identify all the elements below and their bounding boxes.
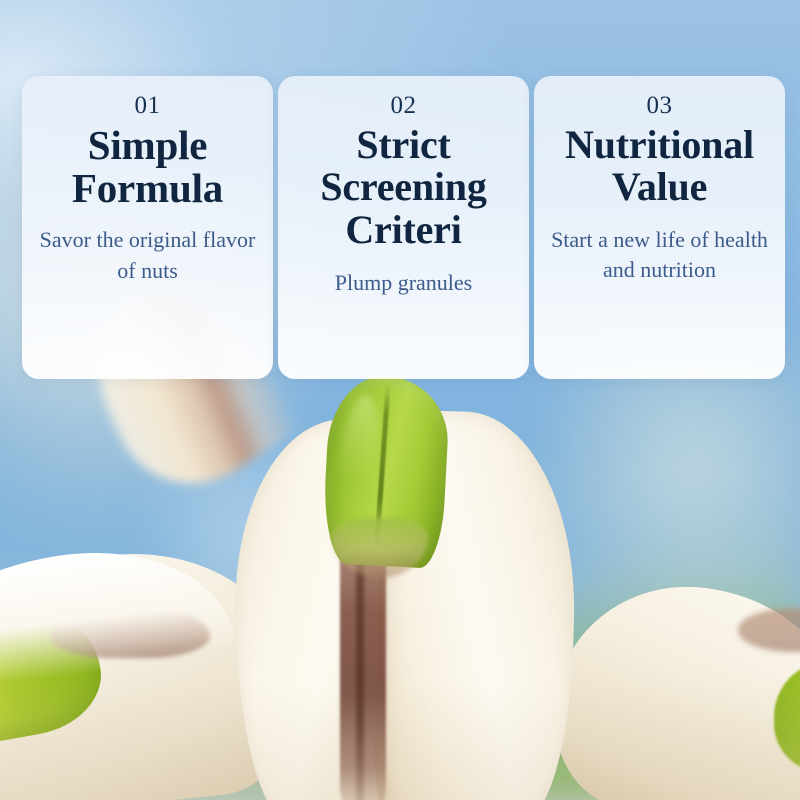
card-subtitle: Plump granules bbox=[335, 268, 473, 298]
feature-card-3[interactable]: 03 Nutritional Value Start a new life of… bbox=[534, 76, 785, 379]
pistachio-main bbox=[228, 368, 588, 800]
card-title-line: Simple bbox=[72, 124, 223, 168]
card-title: Strict Screening Criteri bbox=[320, 124, 486, 252]
card-title: Nutritional Value bbox=[565, 124, 754, 210]
feature-card-1[interactable]: 01 Simple Formula Savor the original fla… bbox=[22, 76, 273, 379]
pistachio-back-right bbox=[556, 588, 800, 800]
card-number: 02 bbox=[391, 92, 417, 120]
card-title-line: Strict bbox=[320, 124, 486, 167]
card-subtitle: Start a new life of health and nutrition bbox=[548, 225, 771, 286]
card-title-line: Nutritional bbox=[565, 124, 754, 167]
card-title-line: Formula bbox=[72, 167, 223, 211]
card-title-line: Value bbox=[565, 166, 754, 209]
card-title-line: Screening bbox=[320, 166, 486, 209]
banner-stage: 01 Simple Formula Savor the original fla… bbox=[0, 0, 800, 800]
card-subtitle: Savor the original flavor of nuts bbox=[36, 225, 259, 286]
card-number: 01 bbox=[135, 92, 161, 120]
card-title: Simple Formula bbox=[72, 124, 223, 212]
card-number: 03 bbox=[647, 92, 673, 120]
feature-card-2[interactable]: 02 Strict Screening Criteri Plump granul… bbox=[278, 76, 529, 379]
feature-card-row: 01 Simple Formula Savor the original fla… bbox=[22, 76, 785, 379]
card-title-line: Criteri bbox=[320, 209, 486, 252]
